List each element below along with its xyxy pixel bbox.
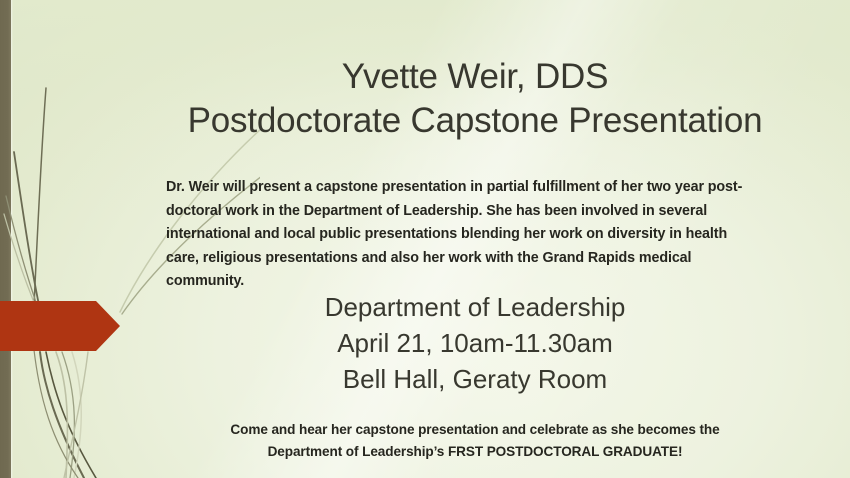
title-line-2: Postdoctorate Capstone Presentation [120,99,830,143]
description-paragraph: Dr. Weir will present a capstone present… [166,176,744,294]
footer-invitation: Come and hear her capstone presentation … [120,419,830,463]
event-datetime: April 21, 10am-11.30am [120,325,830,361]
event-location: Bell Hall, Geraty Room [120,361,830,397]
red-chevron-accent [0,301,120,351]
slide-title: Yvette Weir, DDS Postdoctorate Capstone … [120,55,830,143]
left-olive-bar [0,0,11,478]
footer-line-1: Come and hear her capstone presentation … [120,419,830,441]
title-line-1: Yvette Weir, DDS [120,55,830,99]
footer-line-2: Department of Leadership’s FRST POSTDOCT… [120,441,830,463]
event-department: Department of Leadership [120,289,830,325]
left-bar-hairline [11,0,13,478]
event-details: Department of Leadership April 21, 10am-… [120,289,830,397]
presentation-slide: Yvette Weir, DDS Postdoctorate Capstone … [0,0,850,478]
